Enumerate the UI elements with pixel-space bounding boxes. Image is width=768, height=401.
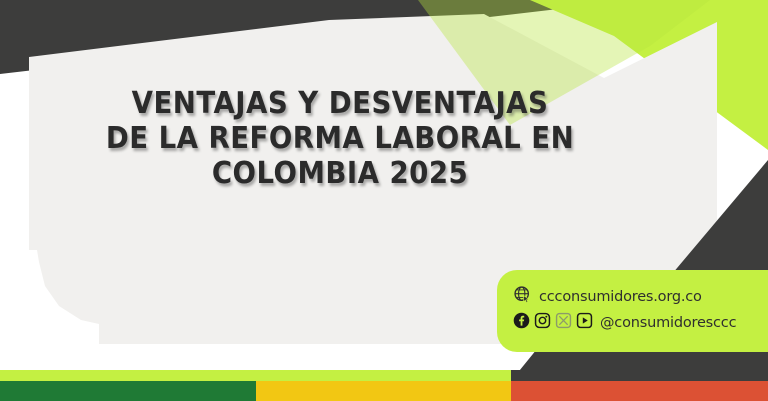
website-url: ccconsumidores.org.co <box>539 289 702 305</box>
title-line-3: COLOMBIA 2025 <box>64 156 616 191</box>
flag-segment-yellow <box>256 381 511 401</box>
contact-pill: ccconsumidores.org.co <box>497 270 768 352</box>
flag-segment-red <box>511 381 768 401</box>
poster-canvas: VENTAJAS Y DESVENTAJAS DE LA REFORMA LAB… <box>0 0 768 401</box>
youtube-icon[interactable] <box>576 312 593 334</box>
title-line-1: VENTAJAS Y DESVENTAJAS <box>64 86 616 121</box>
social-row: @consumidoresccc <box>513 310 768 336</box>
globe-cursor-icon <box>513 285 532 309</box>
social-handle: @consumidoresccc <box>600 315 736 331</box>
lime-underline-bar <box>0 370 511 381</box>
title-line-2: DE LA REFORMA LABORAL EN <box>64 121 616 156</box>
flag-strip <box>0 381 768 401</box>
flag-segment-green <box>0 381 256 401</box>
instagram-icon[interactable] <box>534 312 551 334</box>
facebook-icon[interactable] <box>513 312 530 334</box>
x-twitter-icon[interactable] <box>555 312 572 334</box>
website-row[interactable]: ccconsumidores.org.co <box>513 284 768 310</box>
social-icon-group <box>513 312 593 334</box>
dark-underline-bar <box>511 370 768 381</box>
page-title: VENTAJAS Y DESVENTAJAS DE LA REFORMA LAB… <box>40 86 640 191</box>
